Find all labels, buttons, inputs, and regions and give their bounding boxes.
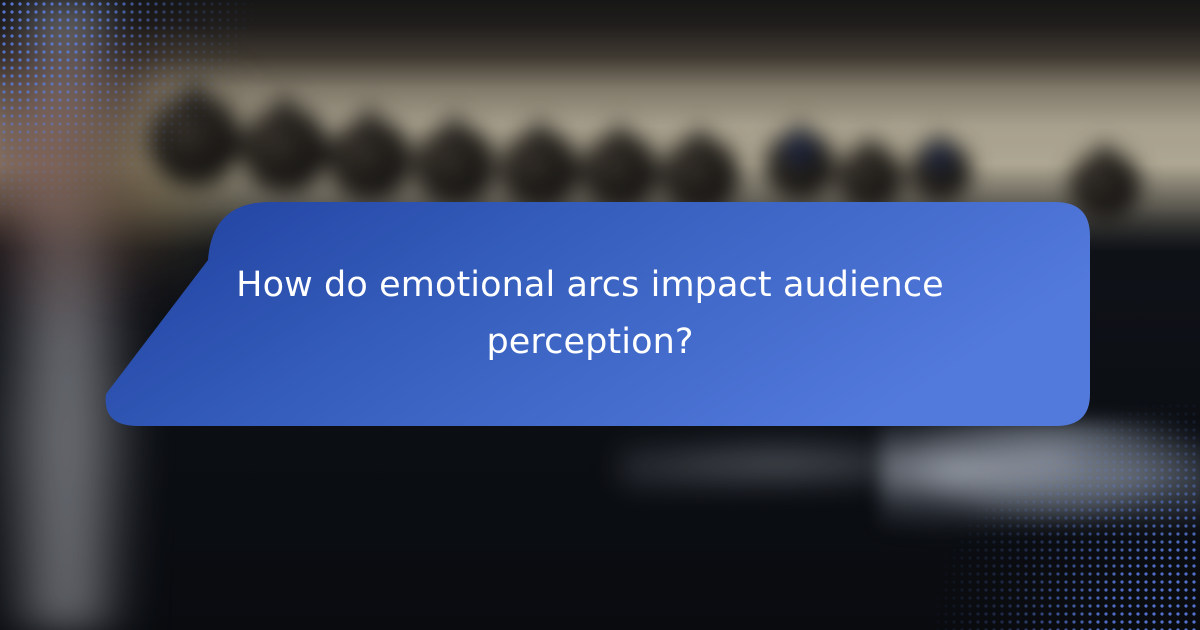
question-text-wrapper: How do emotional arcs impact audience pe… (100, 198, 1100, 430)
question-card: How do emotional arcs impact audience pe… (100, 198, 1100, 430)
screenshot-canvas: How do emotional arcs impact audience pe… (0, 0, 1200, 630)
question-text: How do emotional arcs impact audience pe… (210, 257, 970, 370)
